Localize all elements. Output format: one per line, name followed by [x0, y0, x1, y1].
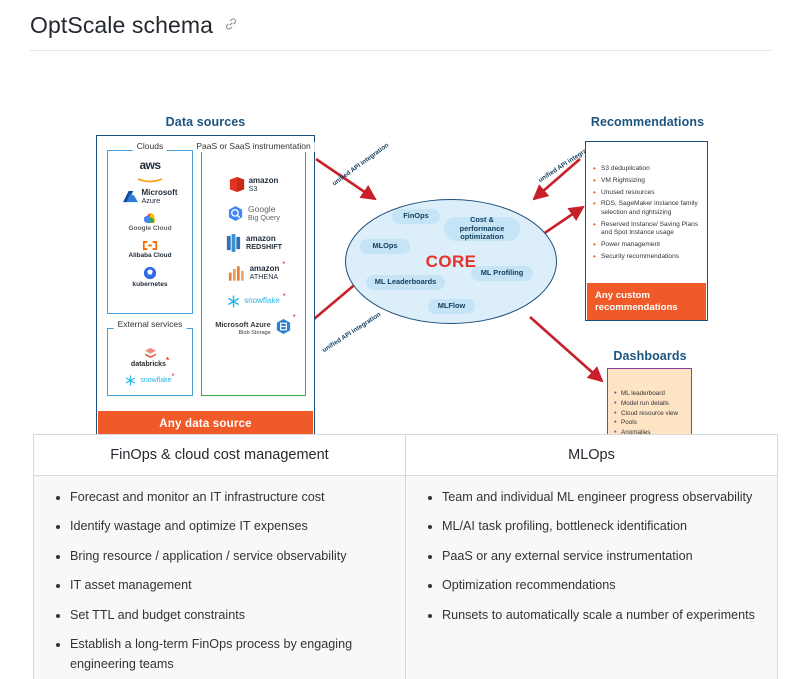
- group-clouds-label: Clouds: [133, 142, 167, 152]
- group-paas-saas-label: PaaS or SaaS instrumentation: [192, 142, 314, 152]
- list-item: IT asset management: [70, 575, 395, 595]
- core-bubble-ml-profiling: ML Profiling: [471, 266, 533, 281]
- logo-amazon-s3: amazonS3: [202, 171, 305, 198]
- list-item: Cloud resource view: [614, 410, 687, 417]
- page-root: OptScale schema unified API in: [0, 0, 800, 679]
- core-bubble-cost-performance: Cost & performance optimization: [444, 217, 520, 241]
- list-item: Team and individual ML engineer progress…: [442, 487, 767, 507]
- logo-snowflake-external: snowflake*: [108, 370, 192, 390]
- list-item: Establish a long-term FinOps process by …: [70, 634, 395, 675]
- table-cell-mlops: Team and individual ML engineer progress…: [406, 476, 778, 679]
- optscale-schema-diagram: unified API integration unified API inte…: [0, 59, 800, 419]
- group-paas-saas: PaaS or SaaS instrumentation amazonS3 Go…: [201, 150, 306, 396]
- header-divider: [30, 50, 772, 51]
- finops-list: Forecast and monitor an IT infrastructur…: [44, 487, 395, 675]
- list-item: ML leaderboard: [614, 390, 687, 397]
- logo-microsoft-azure: MicrosoftAzure: [108, 185, 192, 209]
- list-item: Set TTL and budget constraints: [70, 605, 395, 625]
- core-bubble-mlops: MLOps: [360, 239, 410, 254]
- any-custom-recommendations-bar: Any custom recommendations: [587, 283, 706, 320]
- core-ellipse: CORE FinOps Cost & performance optimizat…: [345, 199, 557, 324]
- table-header-mlops: MLOps: [406, 435, 778, 476]
- data-sources-box: Clouds aws MicrosoftAzure Google Clou: [96, 135, 315, 438]
- dashboards-title: Dashboards: [600, 349, 700, 363]
- capabilities-table: FinOps & cloud cost management MLOps For…: [33, 434, 778, 679]
- core-bubble-ml-leaderboards: ML Leaderboards: [366, 275, 445, 290]
- logo-google-cloud: Google Cloud: [108, 209, 192, 236]
- table-header-finops: FinOps & cloud cost management: [34, 435, 406, 476]
- recommendations-list: S3 deduplication VM Rightsizing Unused r…: [586, 158, 707, 269]
- logo-amazon-redshift: amazonREDSHIFT: [202, 228, 305, 258]
- list-item: RDS, SageMaker instance family selection…: [593, 200, 701, 217]
- table-header-row: FinOps & cloud cost management MLOps: [34, 435, 778, 476]
- link-icon[interactable]: [224, 17, 238, 36]
- list-item: S3 deduplication: [593, 165, 701, 173]
- recommendations-title: Recommendations: [580, 115, 715, 129]
- table-cell-finops: Forecast and monitor an IT infrastructur…: [34, 476, 406, 679]
- table-row: Forecast and monitor an IT infrastructur…: [34, 476, 778, 679]
- logo-aws: aws: [108, 164, 192, 185]
- list-item: ML/AI task profiling, bottleneck identif…: [442, 516, 767, 536]
- group-external-services: External services databricks* snowflake*: [107, 328, 193, 396]
- list-item: Identify wastage and optimize IT expense…: [70, 516, 395, 536]
- page-header: OptScale schema: [0, 0, 800, 39]
- page-title: OptScale schema: [30, 12, 213, 39]
- logo-alibaba-cloud: Alibaba Cloud: [108, 236, 192, 263]
- list-item: Unused resources: [593, 189, 701, 197]
- data-sources-title: Data sources: [96, 115, 315, 129]
- list-item: Runsets to automatically scale a number …: [442, 605, 767, 625]
- logo-amazon-athena: amazonATHENA*: [202, 258, 305, 288]
- recommendations-box: S3 deduplication VM Rightsizing Unused r…: [585, 141, 708, 321]
- list-item: PaaS or any external service instrumenta…: [442, 546, 767, 566]
- arrow-core-to-dashboards: [530, 317, 602, 381]
- list-item: Model run details: [614, 400, 687, 407]
- list-item: Pools: [614, 419, 687, 426]
- group-external-services-label: External services: [114, 320, 187, 330]
- logo-azure-blob-storage: Microsoft AzureBlob Storage *: [202, 314, 305, 344]
- list-item: Reserved Instance/ Saving Plans and Spot…: [593, 221, 701, 238]
- group-clouds: Clouds aws MicrosoftAzure Google Clou: [107, 150, 193, 314]
- logo-google-bigquery: GoogleBig Query: [202, 198, 305, 228]
- list-item: Forecast and monitor an IT infrastructur…: [70, 487, 395, 507]
- list-item: Bring resource / application / service o…: [70, 546, 395, 566]
- core-bubble-mlflow: MLFlow: [428, 299, 475, 314]
- logo-kubernetes: kubernetes: [108, 263, 192, 291]
- mlops-list: Team and individual ML engineer progress…: [416, 487, 767, 625]
- list-item: Optimization recommendations: [442, 575, 767, 595]
- logo-snowflake-paas: snowflake*: [202, 288, 305, 314]
- core-bubble-finops: FinOps: [392, 209, 440, 224]
- list-item: Power management: [593, 241, 701, 249]
- list-item: Security recommendations: [593, 253, 701, 261]
- core-label: CORE: [426, 252, 477, 272]
- list-item: VM Rightsizing: [593, 177, 701, 185]
- logo-databricks: databricks*: [108, 346, 192, 370]
